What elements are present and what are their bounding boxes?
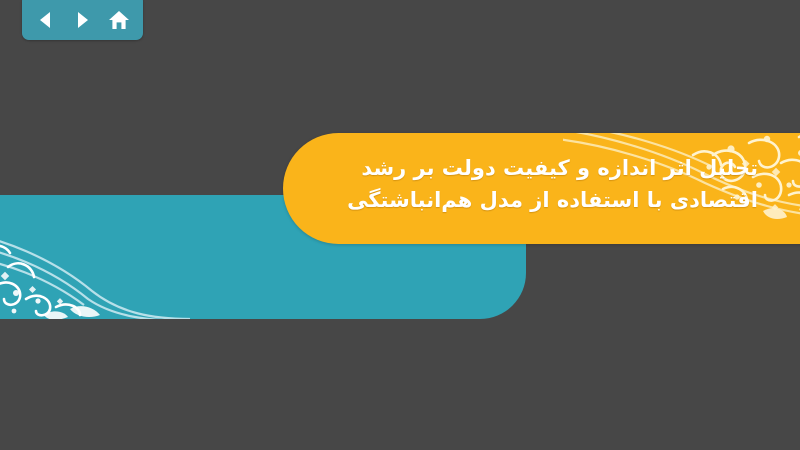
presentation-slide: تحلیل اثر اندازه و کیفیت دولت بر رشد اقت… xyxy=(0,0,800,450)
slide-title-line-2: اقتصادی با استفاده از مدل هم‌انباشتگی xyxy=(328,184,758,216)
slide-title-line-1: تحلیل اثر اندازه و کیفیت دولت بر رشد xyxy=(328,152,758,184)
home-icon xyxy=(108,10,130,31)
next-slide-button[interactable] xyxy=(67,7,97,33)
previous-triangle-icon xyxy=(36,10,56,30)
teal-arabesque-ornament-icon xyxy=(0,195,190,319)
home-button[interactable] xyxy=(104,7,134,33)
next-triangle-icon xyxy=(72,10,92,30)
previous-slide-button[interactable] xyxy=(31,7,61,33)
slide-navigation-bar[interactable] xyxy=(22,0,143,40)
slide-title: تحلیل اثر اندازه و کیفیت دولت بر رشد اقت… xyxy=(328,152,758,216)
